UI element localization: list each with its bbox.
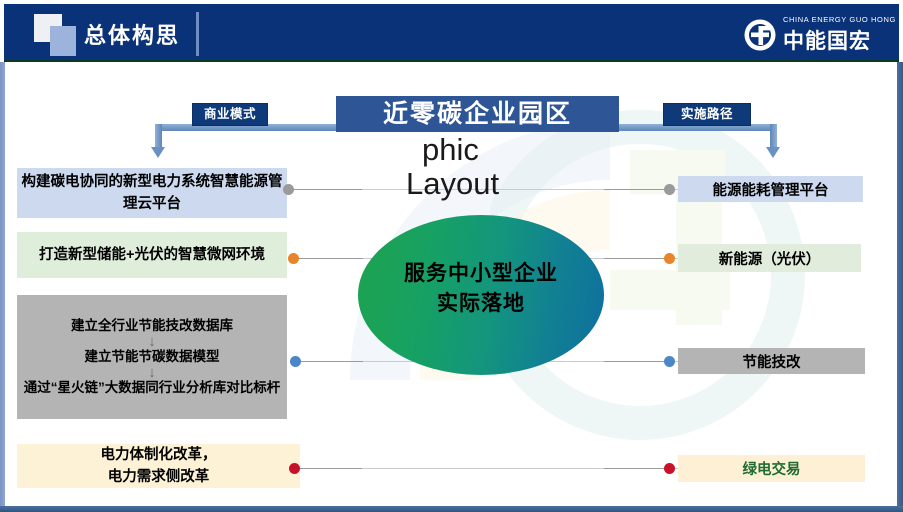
left-item-4-label-line1: 电力体制化改革， xyxy=(17,444,300,466)
page-title: 总体构思 xyxy=(84,18,180,50)
connector-line-right-3 xyxy=(604,361,666,362)
center-node-label: 服务中小型企业 实际落地 xyxy=(358,259,604,319)
left-item-4-label-line2: 电力需求侧改革 xyxy=(17,466,300,488)
left-item-2[interactable]: 打造新型储能+光伏的智慧微网环境 xyxy=(17,232,287,278)
connector-line-right-2 xyxy=(604,258,666,259)
company-logo: CHINA ENERGY GUO HONG 中能国宏 xyxy=(743,12,883,56)
right-item-4[interactable]: 绿电交易 xyxy=(678,455,865,482)
connector-line-left-2 xyxy=(299,258,363,259)
frame-border-right xyxy=(897,62,903,512)
header-underline xyxy=(4,60,899,62)
connector-line-left-1 xyxy=(292,189,362,190)
left-item-3-flow: 建立全行业节能技改数据库 ↓ 建立节能节碳数据模型 ↓ 通过“星火链”大数据同行… xyxy=(17,314,287,400)
center-node-label-line2: 实际落地 xyxy=(358,289,604,319)
overlay-text-line2: Layout xyxy=(406,166,499,202)
left-item-2-label: 打造新型储能+光伏的智慧微网环境 xyxy=(17,244,287,266)
right-item-2-label: 新能源（光伏） xyxy=(678,248,861,269)
left-item-4-label: 电力体制化改革， 电力需求侧改革 xyxy=(17,444,300,488)
overlay-text-line1: phic xyxy=(422,132,479,168)
connector-line-left-3 xyxy=(301,361,363,362)
logo-chinese-text: 中能国宏 xyxy=(783,25,871,55)
left-branch-arrowhead-icon xyxy=(151,147,165,158)
slide-header: 总体构思 CHINA ENERGY GUO HONG 中能国宏 xyxy=(4,4,899,60)
left-item-4[interactable]: 电力体制化改革， 电力需求侧改革 xyxy=(17,444,300,488)
left-item-3[interactable]: 建立全行业节能技改数据库 ↓ 建立节能节碳数据模型 ↓ 通过“星火链”大数据同行… xyxy=(17,295,287,419)
connector-line-left-4 xyxy=(300,468,362,469)
right-item-1-label: 能源能耗管理平台 xyxy=(678,179,863,200)
connector-dot-left-4 xyxy=(289,463,300,474)
right-branch-arrowhead-icon xyxy=(766,147,780,158)
right-item-3[interactable]: 节能技改 xyxy=(678,348,865,374)
connector-line-right-4 xyxy=(604,468,666,469)
badge-business-model[interactable]: 商业模式 xyxy=(192,103,268,126)
header-decor-square-blue xyxy=(50,26,76,56)
right-item-4-label: 绿电交易 xyxy=(678,458,865,479)
connector-dot-right-2 xyxy=(664,253,675,264)
slide-canvas: 总体构思 CHINA ENERGY GUO HONG 中能国宏 商业模式 实施路… xyxy=(0,0,903,512)
frame-border-left xyxy=(0,62,5,512)
center-node-ellipse[interactable]: 服务中小型企业 实际落地 xyxy=(358,215,604,375)
connector-dot-right-3 xyxy=(664,356,675,367)
flow-down-arrow-icon-1: ↓ xyxy=(21,335,283,348)
flow-down-arrow-icon-2: ↓ xyxy=(21,366,283,379)
connector-dot-left-3 xyxy=(290,356,301,367)
frame-border-bottom xyxy=(0,506,903,512)
diagram-center-title: 近零碳企业园区 xyxy=(336,96,619,132)
left-item-3-flow-step-3: 通过“星火链”大数据同行业分析库对比标杆 xyxy=(21,379,283,397)
connector-line-right-1 xyxy=(604,189,666,190)
right-item-3-label: 节能技改 xyxy=(678,351,865,372)
right-item-1[interactable]: 能源能耗管理平台 xyxy=(678,176,863,202)
logo-english-text: CHINA ENERGY GUO HONG xyxy=(783,15,896,24)
company-circle-g-logo-icon xyxy=(743,18,777,52)
connector-dot-right-4 xyxy=(664,463,675,474)
right-item-2[interactable]: 新能源（光伏） xyxy=(678,244,861,272)
center-node-label-line1: 服务中小型企业 xyxy=(358,259,604,289)
header-title-accent-bar xyxy=(196,12,199,56)
badge-implementation-path[interactable]: 实施路径 xyxy=(663,103,751,126)
connector-dot-left-1 xyxy=(283,184,294,195)
left-item-1[interactable]: 构建碳电协同的新型电力系统智慧能源管理云平台 xyxy=(17,168,287,218)
left-item-1-label: 构建碳电协同的新型电力系统智慧能源管理云平台 xyxy=(17,171,287,215)
connector-dot-left-2 xyxy=(288,253,299,264)
connector-dot-right-1 xyxy=(664,184,675,195)
